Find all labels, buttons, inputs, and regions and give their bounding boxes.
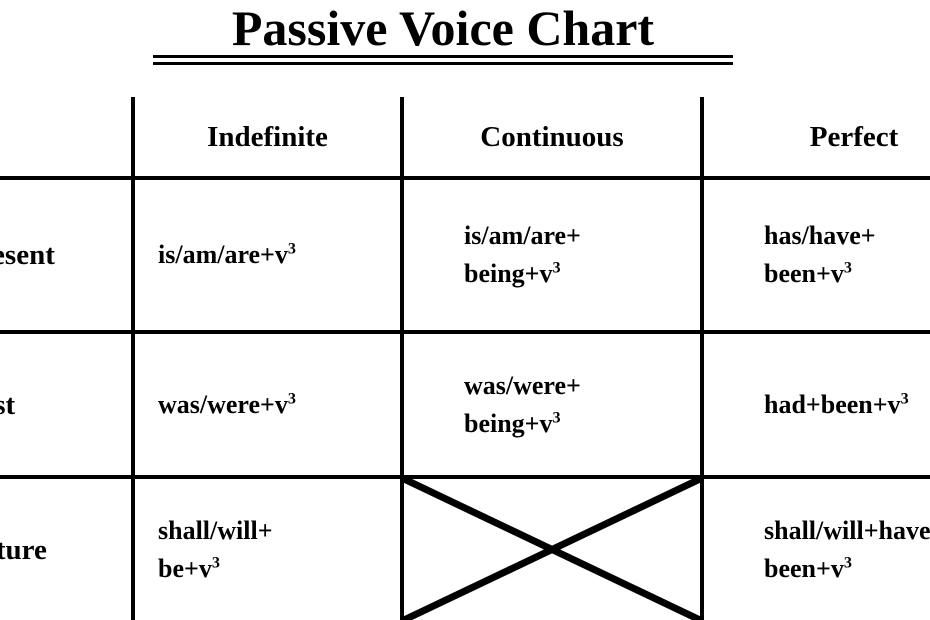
row-header-future: Future [0, 479, 131, 620]
column-header-perfect: Perfect [704, 97, 930, 176]
column-header-continuous: Continuous [404, 97, 700, 176]
cell-past-perfect: had+been+v3 [704, 334, 930, 475]
cell-past-continuous-text: was/were+being+v3 [404, 367, 581, 443]
column-header-indefinite: Indefinite [135, 97, 400, 176]
cell-future-continuous-crossed-out [404, 479, 700, 620]
row-header-future-label: Future [0, 534, 47, 566]
cross-out-icon [404, 479, 700, 620]
cell-past-indefinite-text: was/were+v3 [135, 386, 296, 424]
cell-present-continuous-text: is/am/are+being+v3 [404, 217, 581, 293]
column-header-continuous-label: Continuous [404, 121, 700, 153]
cell-future-indefinite: shall/will+be+v3 [135, 479, 400, 620]
column-header-indefinite-label: Indefinite [135, 121, 400, 153]
page-title: Passive Voice Chart [153, 1, 733, 55]
row-header-past: Past [0, 334, 131, 475]
title-block: Passive Voice Chart [0, 0, 930, 80]
cell-past-continuous: was/were+being+v3 [404, 334, 700, 475]
cell-past-indefinite: was/were+v3 [135, 334, 400, 475]
row-header-past-label: Past [0, 389, 15, 421]
column-header-perfect-label: Perfect [704, 121, 930, 153]
title-underline-lower [153, 62, 733, 65]
passive-voice-chart-page: Passive Voice Chart Indefinite Continuou… [0, 0, 930, 620]
row-header-present-label: Present [0, 239, 55, 271]
cell-present-continuous: is/am/are+being+v3 [404, 180, 700, 330]
cell-present-perfect-text: has/have+been+v3 [704, 217, 876, 293]
passive-voice-table: Indefinite Continuous Perfect Present is… [0, 97, 930, 620]
table-corner-cell [0, 97, 131, 176]
cell-future-perfect: shall/will+have+been+v3 [704, 479, 930, 620]
cell-past-perfect-text: had+been+v3 [704, 386, 909, 424]
row-header-present: Present [0, 180, 131, 330]
cell-present-perfect: has/have+been+v3 [704, 180, 930, 330]
cell-future-perfect-text: shall/will+have+been+v3 [704, 512, 930, 588]
cell-present-indefinite: is/am/are+v3 [135, 180, 400, 330]
cell-present-indefinite-text: is/am/are+v3 [135, 236, 296, 274]
title-underline-upper [153, 55, 733, 58]
cell-future-indefinite-text: shall/will+be+v3 [135, 512, 273, 588]
